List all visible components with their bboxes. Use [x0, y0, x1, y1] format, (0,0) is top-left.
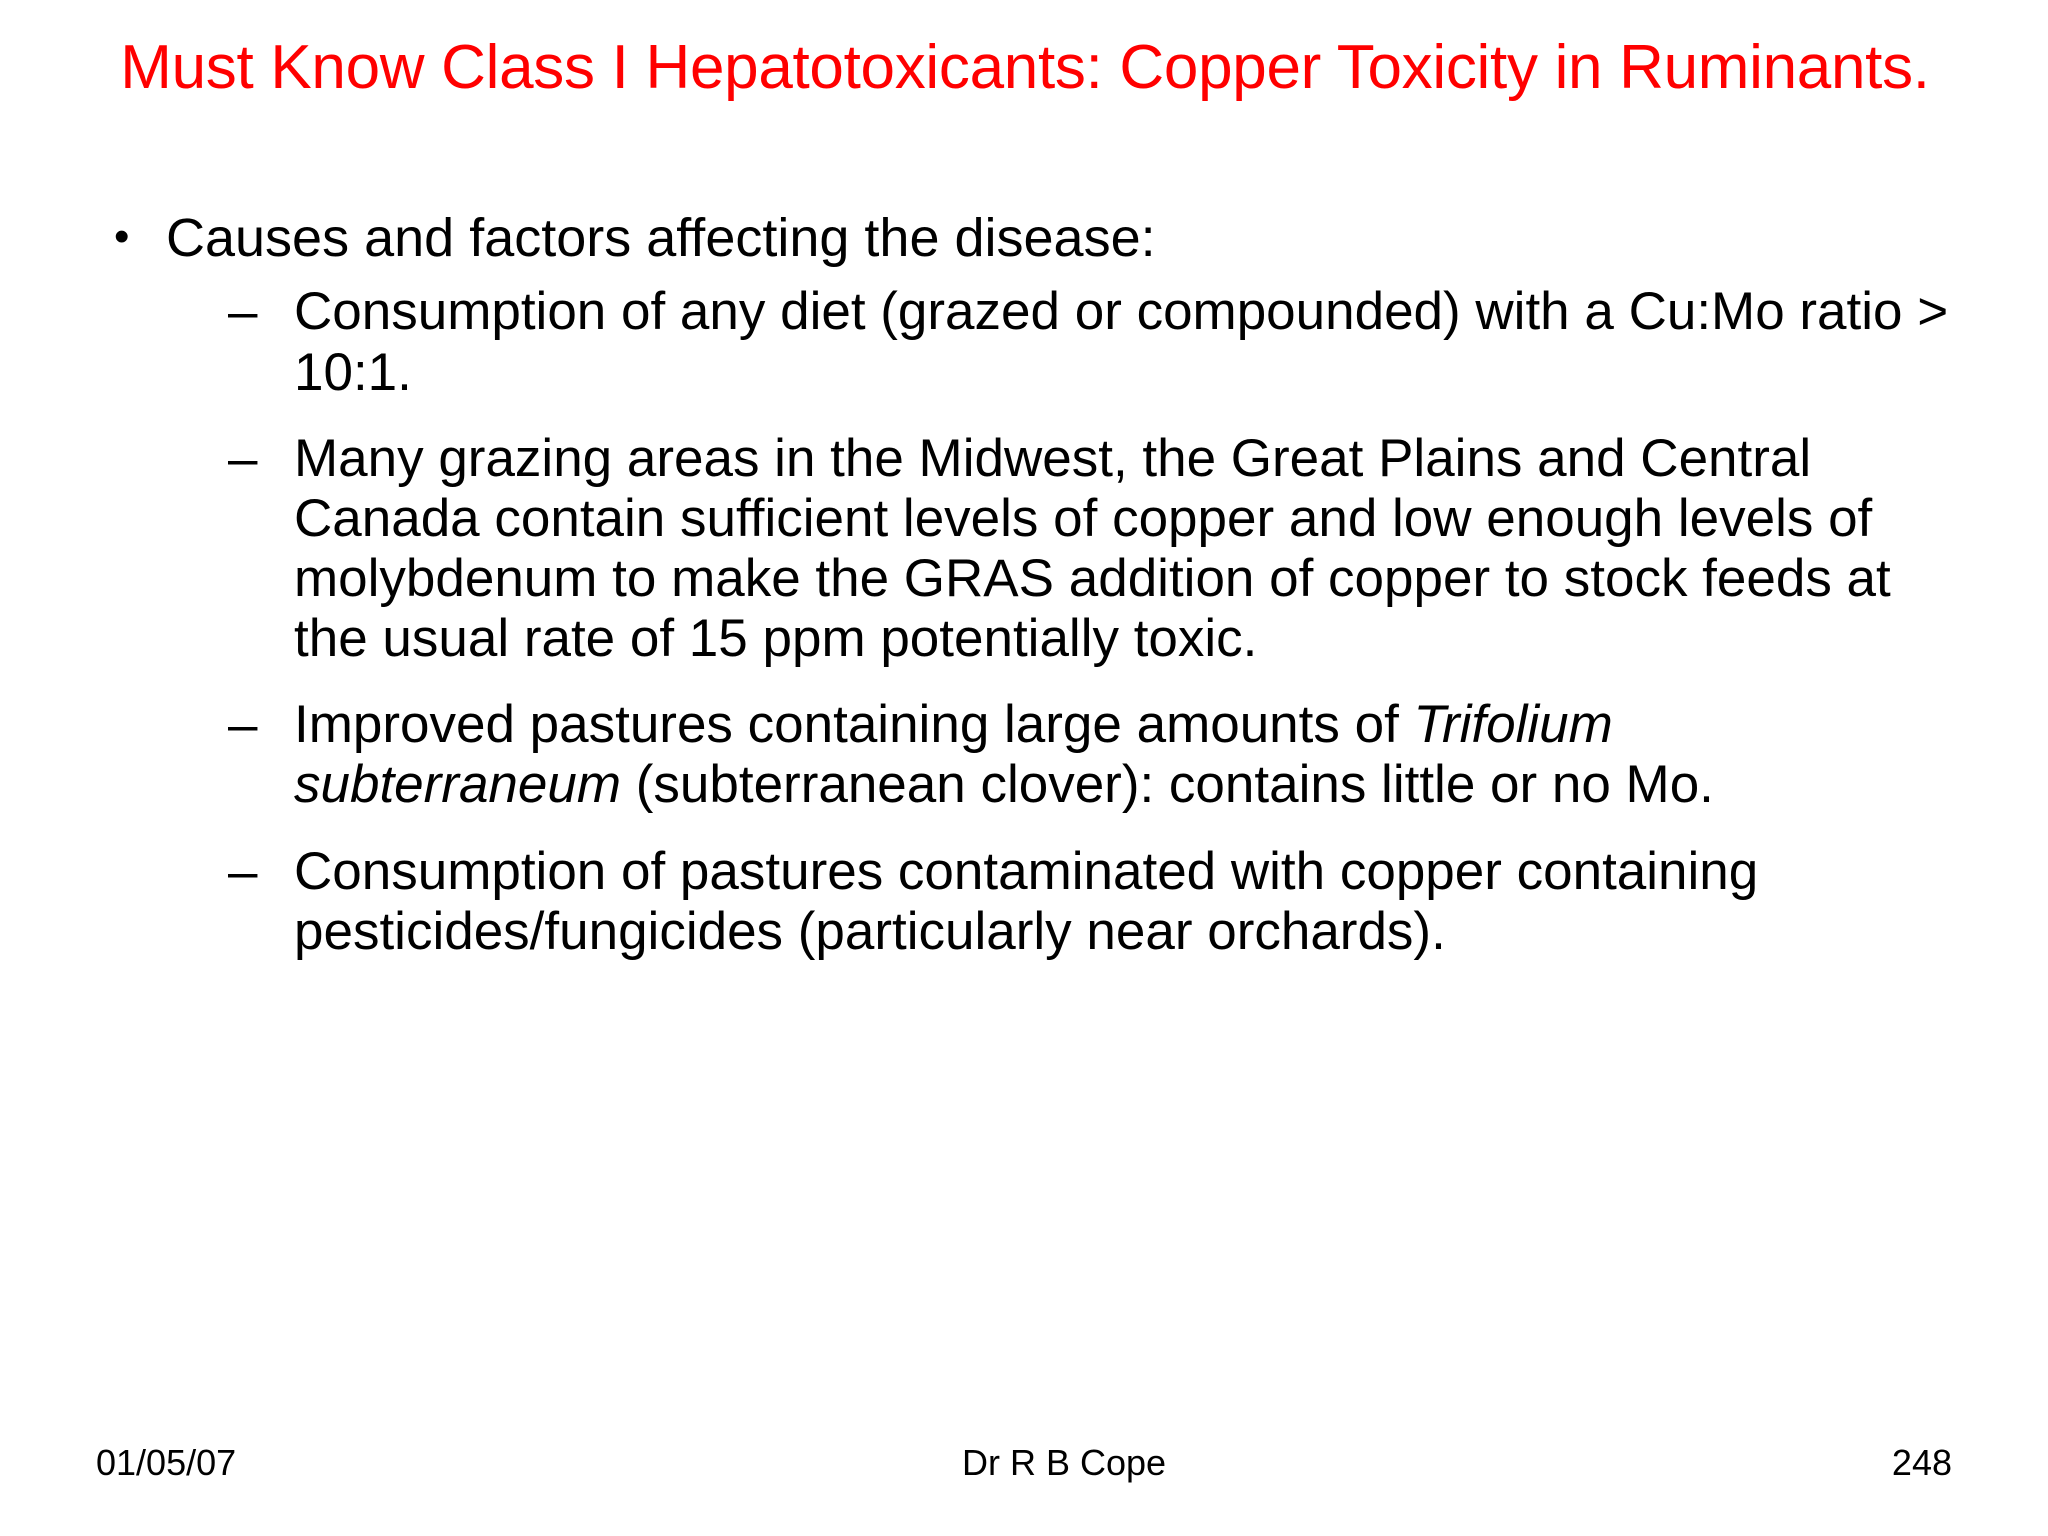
list-item: – Consumption of any diet (grazed or com…	[96, 282, 1996, 402]
bullet-marker-dash: –	[96, 282, 294, 342]
slide-body: • Causes and factors affecting the disea…	[96, 208, 1996, 988]
title-block: Must Know Class I Hepatotoxicants: Coppe…	[120, 32, 1930, 103]
list-item: – Consumption of pastures contaminated w…	[96, 842, 1996, 962]
list-item: – Improved pastures containing large amo…	[96, 695, 1996, 815]
sub-bullet-text-pesticides: Consumption of pastures contaminated wit…	[294, 842, 1954, 962]
bullet-marker-dot: •	[96, 208, 166, 265]
page-title: Must Know Class I Hepatotoxicants: Coppe…	[120, 32, 1930, 103]
footer-date: 01/05/07	[96, 1442, 236, 1484]
list-item: – Many grazing areas in the Midwest, the…	[96, 429, 1996, 670]
sub-bullet-text-cu-mo-ratio: Consumption of any diet (grazed or compo…	[294, 282, 1954, 402]
slide: Must Know Class I Hepatotoxicants: Coppe…	[0, 0, 2048, 1536]
text-segment-plain-2: (subterranean clover): contains little o…	[621, 755, 1714, 814]
bullet-marker-dash: –	[96, 429, 294, 489]
text-segment-plain-1: Improved pastures containing large amoun…	[294, 695, 1414, 754]
sub-bullet-text-grazing-areas: Many grazing areas in the Midwest, the G…	[294, 429, 1954, 670]
footer-page-number: 248	[1892, 1442, 1952, 1484]
slide-footer: 01/05/07 Dr R B Cope 248	[96, 1438, 1952, 1488]
bullet-marker-dash: –	[96, 695, 294, 755]
sub-bullet-text-trifolium: Improved pastures containing large amoun…	[294, 695, 1954, 815]
bullet-level1-text: Causes and factors affecting the disease…	[166, 208, 1996, 268]
sub-bullet-list: – Consumption of any diet (grazed or com…	[96, 282, 1996, 961]
bullet-level1: • Causes and factors affecting the disea…	[96, 208, 1996, 268]
bullet-marker-dash: –	[96, 842, 294, 902]
footer-author: Dr R B Cope	[236, 1442, 1892, 1484]
